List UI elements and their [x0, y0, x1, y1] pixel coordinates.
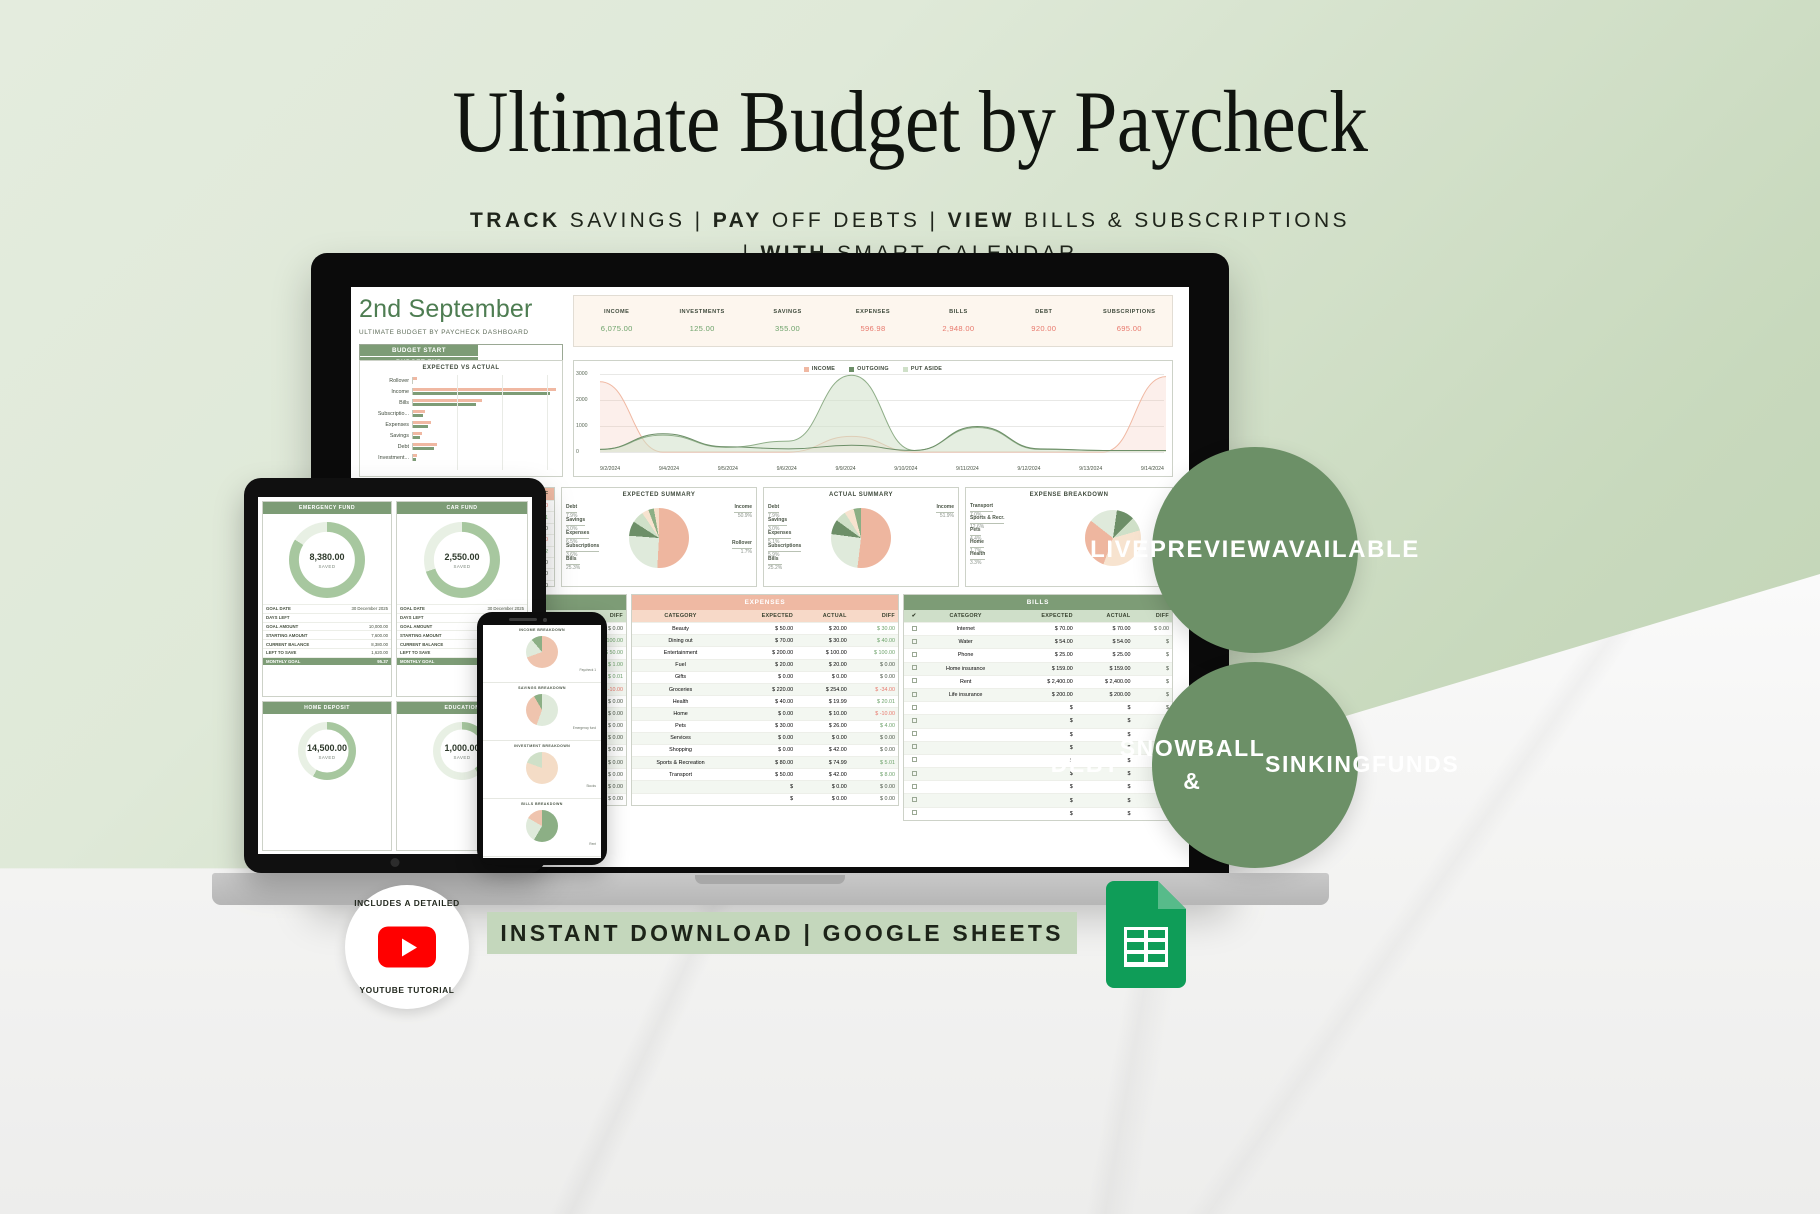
legend-swatch-icon: [804, 367, 809, 372]
table-cell: Internet: [924, 623, 1007, 636]
legend-item-put-aside: PUT ASIDE: [903, 366, 942, 372]
pie-label-name: Home: [970, 539, 984, 548]
table-row[interactable]: $$$: [904, 702, 1172, 715]
table-row[interactable]: Health$ 40.00$ 19.99$ 20.01: [632, 696, 898, 708]
kpi-label: EXPENSES: [830, 309, 915, 315]
pie-label: Bills25.3%: [566, 556, 580, 572]
eva-bar-expected: [413, 410, 425, 413]
savings-row-label: GOAL DATE: [266, 606, 351, 611]
savings-amount: 2,550.00: [444, 552, 479, 562]
table-column-header: DIFF: [1133, 610, 1172, 623]
savings-amount: 8,380.00: [309, 552, 344, 562]
eva-bar-actual: [413, 414, 423, 417]
play-icon: [378, 927, 436, 968]
savings-card-title: CAR FUND: [397, 502, 527, 514]
eva-bars: [412, 399, 556, 405]
table-cell: [924, 754, 1007, 767]
pie-label: Bills25.2%: [768, 556, 782, 572]
table-row[interactable]: $$$: [904, 807, 1172, 820]
table-row[interactable]: Gifts$ 0.00$ 0.00$ 0.00: [632, 671, 898, 683]
table-banner: EXPENSES: [632, 595, 898, 610]
subtitle-bills: BILLS & SUBSCRIPTIONS: [1015, 209, 1350, 232]
savings-card-title: EMERGENCY FUND: [263, 502, 391, 514]
eva-bar-expected: [413, 421, 431, 424]
dashboard-header: 2nd September ULTIMATE BUDGET BY PAYCHEC…: [359, 295, 563, 368]
table-cell: Entertainment: [632, 647, 729, 659]
table-cell: $ 0.00: [729, 732, 796, 744]
savings-row-label: LEFT TO SAVE: [266, 650, 371, 655]
kpi-value: 695.00: [1087, 324, 1172, 333]
eva-gridline: [502, 375, 503, 470]
phone-pie-graphic: [526, 810, 558, 842]
check-icon[interactable]: [912, 757, 917, 762]
eva-bars: [412, 388, 556, 394]
table-cell-checkbox[interactable]: [904, 649, 924, 662]
table-column-header: ACTUAL: [796, 610, 850, 623]
table-cell: [924, 794, 1007, 807]
table-cell: $ 8.00: [850, 769, 898, 781]
kpi-value: 6,075.00: [574, 324, 659, 333]
phone-section-title: SAVINGS BREAKDOWN: [487, 686, 597, 690]
savings-row-label: DAYS LEFT: [266, 615, 388, 620]
kpi-cell-income: INCOME6,075.00: [574, 309, 659, 333]
pie-wrap: Debt7.9%Savings3.0%Expenses6.5%Subscript…: [562, 500, 756, 578]
check-icon[interactable]: [912, 731, 917, 736]
phone-pie-graphic: [526, 694, 558, 726]
table-cell-checkbox[interactable]: [904, 623, 924, 636]
table-cell-checkbox[interactable]: [904, 702, 924, 715]
table-cell: [924, 741, 1007, 754]
kpi-cell-debt: DEBT920.00: [1001, 309, 1086, 333]
table-cell-checkbox[interactable]: [904, 675, 924, 688]
table-row[interactable]: Beauty$ 50.00$ 20.00$ 30.00: [632, 623, 898, 635]
kpi-cell-bills: BILLS2,948.00: [916, 309, 1001, 333]
table-row[interactable]: Shopping$ 0.00$ 42.00$ 0.00: [632, 744, 898, 756]
table-cell: $: [1007, 715, 1076, 728]
table-row[interactable]: Pets$ 30.00$ 26.00$ 4.00: [632, 720, 898, 732]
table-row[interactable]: Water$ 54.00$ 54.00$: [904, 636, 1172, 649]
table-cell: $: [1133, 688, 1172, 701]
eva-bar-expected: [413, 388, 556, 391]
table-cell: $: [1007, 702, 1076, 715]
legend-swatch-icon: [849, 367, 854, 372]
table-cell: Phone: [924, 649, 1007, 662]
pie-label-name: Income: [734, 504, 752, 513]
expected-vs-actual-chart: EXPECTED VS ACTUAL RolloverIncomeBillsSu…: [359, 360, 563, 477]
table-cell: $: [1133, 636, 1172, 649]
check-icon[interactable]: [912, 744, 917, 749]
table-cell: $ 0.00: [850, 671, 898, 683]
table-header-row: CATEGORYEXPECTEDACTUALDIFF: [632, 610, 898, 623]
table-cell: Groceries: [632, 683, 729, 695]
table-cell: $ 0.00: [850, 744, 898, 756]
eva-category-label: Investment...: [366, 455, 412, 461]
eva-bar-actual: [413, 436, 420, 439]
cashflow-ytick-label: 0: [576, 449, 579, 455]
table-cell-checkbox[interactable]: [904, 636, 924, 649]
table-cell: $ 0.00: [850, 732, 898, 744]
legend-label: INCOME: [812, 366, 835, 372]
table-cell: $ -10.00: [850, 708, 898, 720]
table-cell: $ 10.00: [796, 708, 850, 720]
phone-pie-label: Stocks: [586, 784, 596, 788]
table-cell: $ 19.99: [796, 696, 850, 708]
phone-section-investment-breakdown: INVESTMENT BREAKDOWNStocks: [483, 741, 601, 799]
pie-label-name: Subscriptions: [768, 543, 801, 552]
eva-bars: [412, 454, 556, 460]
table-row[interactable]: $$ 0.00$ 0.00: [632, 793, 898, 805]
table-row[interactable]: Fuel$ 20.00$ 20.00$ 0.00: [632, 659, 898, 671]
savings-detail-rows: GOAL DATE30 December 2025DAYS LEFTGOAL A…: [263, 604, 391, 665]
table-cell: Dining out: [632, 635, 729, 647]
table-cell: $ 0.00: [850, 793, 898, 805]
table-row[interactable]: Home insurance$ 159.00$ 159.00$: [904, 662, 1172, 675]
expected-vs-actual-title: EXPECTED VS ACTUAL: [360, 361, 562, 373]
cashflow-ytick-label: 3000: [576, 371, 588, 377]
cashflow-plot: 3000200010000: [600, 374, 1164, 452]
table-cell-checkbox[interactable]: [904, 662, 924, 675]
savings-card-home-deposit: HOME DEPOSIT14,500.00SAVED: [262, 701, 392, 851]
legend-label: OUTGOING: [857, 366, 889, 372]
savings-row: LEFT TO SAVE1,620.00: [263, 648, 391, 657]
pie-label: Rollover1.7%: [732, 540, 752, 556]
table-row[interactable]: Entertainment$ 200.00$ 100.00$ 100.00: [632, 647, 898, 659]
table-cell: $ 74.99: [796, 757, 850, 769]
table-cell: $ 0.00: [796, 671, 850, 683]
savings-row-label: GOAL AMOUNT: [266, 624, 369, 629]
phone-pie-label: Emergency fund: [573, 726, 596, 730]
pie-label-name: Rollover: [732, 540, 752, 549]
table-row[interactable]: Internet$ 70.00$ 70.00$ 0.00: [904, 623, 1172, 636]
table-cell: $ 30.00: [729, 720, 796, 732]
table-cell: [632, 781, 729, 793]
table-cell: Services: [632, 732, 729, 744]
budget-start-input[interactable]: [478, 345, 562, 356]
table-cell: $ 254.00: [796, 683, 850, 695]
eva-bar-actual: [413, 458, 416, 461]
pie-label-name: Sports & Recr.: [970, 515, 1004, 524]
table-column-header: EXPECTED: [1007, 610, 1076, 623]
badge-debt-snowball: DEBTSNOWBALL &SINKINGFUNDS: [1152, 662, 1358, 868]
table-cell: $ 159.00: [1076, 662, 1134, 675]
table-cell: [924, 768, 1007, 781]
phone-section-bills-breakdown: BILLS BREAKDOWNRent: [483, 799, 601, 857]
savings-amount: 14,500.00: [307, 743, 347, 753]
table-cell: $ 5.01: [850, 757, 898, 769]
table-row[interactable]: Home$ 0.00$ 10.00$ -10.00: [632, 708, 898, 720]
pie-label: Income50.9%: [734, 504, 752, 520]
table-cell: Home insurance: [924, 662, 1007, 675]
dashboard-subheading: ULTIMATE BUDGET BY PAYCHECK DASHBOARD: [359, 329, 563, 336]
table: CATEGORYEXPECTEDACTUALDIFFBeauty$ 50.00$…: [632, 610, 898, 805]
table-row[interactable]: Dining out$ 70.00$ 30.00$ 40.00: [632, 635, 898, 647]
savings-row: GOAL DATE30 December 2025: [263, 604, 391, 613]
phone-pie-label: Paycheck 1: [580, 668, 596, 672]
table-cell: $ 0.00: [1133, 623, 1172, 636]
expenses-table: EXPENSESCATEGORYEXPECTEDACTUALDIFFBeauty…: [631, 594, 899, 806]
pie-label-value: 50.9%: [738, 513, 752, 519]
savings-goal-row: MONTHLY GOAL95.37: [263, 657, 391, 666]
table-cell: $ 70.00: [1007, 623, 1076, 636]
savings-donut: 2,550.00SAVED: [424, 522, 500, 598]
table-row[interactable]: $$$: [904, 715, 1172, 728]
table-cell: [924, 807, 1007, 820]
expected-vs-actual-plot: RolloverIncomeBillsSubscriptio...Expense…: [366, 375, 556, 470]
table-cell: $ 100.00: [796, 647, 850, 659]
table-cell: $ 70.00: [1076, 623, 1134, 636]
eva-gridline: [547, 375, 548, 470]
savings-card-title: HOME DEPOSIT: [263, 702, 391, 714]
table-cell: $ 0.00: [729, 671, 796, 683]
check-icon[interactable]: [912, 771, 917, 776]
google-sheets-icon: [1106, 881, 1186, 988]
table-cell: Home: [632, 708, 729, 720]
check-icon[interactable]: [912, 784, 917, 789]
table-cell: $: [1076, 807, 1134, 820]
pie-label-name: Debt: [768, 504, 779, 513]
table-column-header: ACTUAL: [1076, 610, 1134, 623]
tablet-home-button[interactable]: [391, 858, 400, 867]
savings-row-value: 1,620.00: [371, 650, 388, 655]
table-row[interactable]: Groceries$ 220.00$ 254.00$ -34.00: [632, 683, 898, 695]
table-cell: $ 0.00: [796, 732, 850, 744]
table-cell: $: [1076, 715, 1134, 728]
table-cell: $ 30.00: [796, 635, 850, 647]
table-cell-checkbox[interactable]: [904, 794, 924, 807]
savings-amount-label: SAVED: [453, 755, 470, 760]
check-icon[interactable]: [912, 718, 917, 723]
subtitle-track: TRACK: [470, 209, 561, 232]
table-row[interactable]: Life insurance$ 200.00$ 200.00$: [904, 688, 1172, 701]
table-cell-checkbox[interactable]: [904, 781, 924, 794]
table-cell-checkbox[interactable]: [904, 688, 924, 701]
table-cell: $ 220.00: [729, 683, 796, 695]
table-cell-checkbox[interactable]: [904, 728, 924, 741]
table-cell: $ 42.00: [796, 744, 850, 756]
cashflow-xtick-label: 9/12/2024: [1017, 466, 1040, 472]
savings-amount-wrap: 14,500.00SAVED: [298, 722, 356, 780]
eva-row: Bills: [366, 397, 556, 408]
legend-item-income: INCOME: [804, 366, 835, 372]
savings-row-value: 7,600.00: [371, 633, 388, 638]
table-row[interactable]: $$ 0.00$ 0.00: [632, 781, 898, 793]
badge-debt-text-line-2: SINKING: [1265, 748, 1372, 781]
table-cell: [924, 715, 1007, 728]
cashflow-xaxis: 9/2/20249/4/20249/5/20249/6/20249/9/2024…: [600, 466, 1164, 472]
cashflow-xtick-label: 9/13/2024: [1079, 466, 1102, 472]
table-cell: [924, 702, 1007, 715]
savings-amount: 1,000.00: [444, 743, 479, 753]
table-cell-checkbox[interactable]: [904, 741, 924, 754]
table-cell: $: [1133, 649, 1172, 662]
phone-section-income-breakdown: INCOME BREAKDOWNPaycheck 1: [483, 625, 601, 683]
phone-screen: INCOME BREAKDOWNPaycheck 1SAVINGS BREAKD…: [483, 625, 601, 858]
check-icon[interactable]: [912, 639, 917, 644]
cashflow-xtick-label: 9/14/2024: [1141, 466, 1164, 472]
table-cell: $ 50.00: [729, 769, 796, 781]
table-cell: $ 50.00: [729, 623, 796, 635]
kpi-value: 2,948.00: [916, 324, 1001, 333]
savings-row-label: GOAL DATE: [400, 606, 487, 611]
eva-gridline: [457, 375, 458, 470]
eva-row: Income: [366, 386, 556, 397]
youtube-badge-top-text: INCLUDES A DETAILED: [345, 898, 469, 909]
table-cell: [924, 728, 1007, 741]
table-cell: $: [1007, 794, 1076, 807]
check-icon[interactable]: [912, 652, 917, 657]
eva-row: Rollover: [366, 375, 556, 386]
eva-row: Savings: [366, 430, 556, 441]
eva-bar-actual: [413, 392, 550, 395]
savings-goal-value: 95.37: [377, 659, 388, 664]
kpi-cell-subscriptions: SUBSCRIPTIONS695.00: [1087, 309, 1172, 333]
savings-row: CURRENT BALANCE8,380.00: [263, 639, 391, 648]
savings-card-emergency-fund: EMERGENCY FUND8,380.00SAVEDGOAL DATE30 D…: [262, 501, 392, 697]
eva-bar-expected: [413, 377, 417, 380]
table-banner: BILLS: [904, 595, 1172, 610]
check-icon[interactable]: [912, 626, 917, 631]
pie-label-name: Bills: [768, 556, 782, 565]
pie-title: EXPENSE BREAKDOWN: [966, 488, 1172, 500]
eva-bar-expected: [413, 454, 417, 457]
table-row[interactable]: Phone$ 25.00$ 25.00$: [904, 649, 1172, 662]
youtube-tutorial-badge: INCLUDES A DETAILED YOUTUBE TUTORIAL: [345, 885, 469, 1009]
phone-camera: [543, 618, 547, 622]
table-cell-checkbox[interactable]: [904, 768, 924, 781]
table-cell: [924, 781, 1007, 794]
pie-label: Health3.3%: [970, 551, 985, 567]
table-cell: $: [1007, 807, 1076, 820]
pie-label-name: Debt: [566, 504, 577, 513]
table-cell: $ 20.01: [850, 696, 898, 708]
pie-label-name: Savings: [566, 517, 585, 526]
table-cell: Pets: [632, 720, 729, 732]
phone-section-title: BILLS BREAKDOWN: [487, 802, 597, 806]
table-cell: $ 0.00: [729, 708, 796, 720]
table-cell: $ 0.00: [729, 744, 796, 756]
table-cell: $: [1007, 781, 1076, 794]
cashflow-xtick-label: 9/5/2024: [718, 466, 738, 472]
table-cell: Water: [924, 636, 1007, 649]
phone-pie-graphic: [526, 636, 558, 668]
table-cell: Sports & Recreation: [632, 757, 729, 769]
cashflow-xtick-label: 9/11/2024: [956, 466, 979, 472]
savings-row: STARTING AMOUNT7,600.00: [263, 630, 391, 639]
check-icon[interactable]: [912, 797, 917, 802]
table-cell: $ 40.00: [729, 696, 796, 708]
table-row[interactable]: Rent$ 2,400.00$ 2,400.00$: [904, 675, 1172, 688]
table-cell: $ 40.00: [850, 635, 898, 647]
savings-donut: 14,500.00SAVED: [298, 722, 356, 780]
table-cell-checkbox[interactable]: [904, 754, 924, 767]
table-cell: $ 20.00: [796, 659, 850, 671]
kpi-value: 920.00: [1001, 324, 1086, 333]
table-row[interactable]: Sports & Recreation$ 80.00$ 74.99$ 5.01: [632, 757, 898, 769]
badge-live-text-line-1: PREVIEW: [1150, 533, 1272, 568]
eva-bar-actual: [413, 403, 476, 406]
pie-label-name: Pets: [970, 527, 981, 536]
check-icon[interactable]: [912, 810, 917, 815]
pie-wrap: Debt7.9%Savings3.0%Expenses5.1%Subscript…: [764, 500, 958, 578]
check-icon[interactable]: [912, 678, 917, 683]
subtitle-view: VIEW: [948, 209, 1015, 232]
budget-start-label: BUDGET START: [360, 345, 478, 356]
eva-bar-expected: [413, 432, 422, 435]
table-cell: $ 159.00: [1007, 662, 1076, 675]
eva-bars: [412, 432, 556, 438]
pie-title: EXPECTED SUMMARY: [562, 488, 756, 500]
cashflow-xtick-label: 9/4/2024: [659, 466, 679, 472]
legend-swatch-icon: [903, 367, 908, 372]
table-cell: Beauty: [632, 623, 729, 635]
eva-category-label: Savings: [366, 433, 412, 439]
badge-live-preview: LIVEPREVIEWAVAILABLE: [1152, 447, 1358, 653]
cashflow-xtick-label: 9/9/2024: [835, 466, 855, 472]
pie-label-name: Bills: [566, 556, 580, 565]
table-cell: $ 25.00: [1076, 649, 1134, 662]
check-icon[interactable]: [912, 692, 917, 697]
table-cell-checkbox[interactable]: [904, 807, 924, 820]
eva-bars: [412, 410, 556, 416]
eva-category-label: Rollover: [366, 378, 412, 384]
eva-bars: [412, 377, 556, 383]
table-row[interactable]: Services$ 0.00$ 0.00$ 0.00: [632, 732, 898, 744]
table-cell: $ 20.00: [729, 659, 796, 671]
table-cell: $ 0.00: [850, 781, 898, 793]
kpi-label: DEBT: [1001, 309, 1086, 315]
pie-label-name: Subscriptions: [566, 543, 599, 552]
kpi-cell-investments: INVESTMENTS125.00: [659, 309, 744, 333]
youtube-badge-bottom-text: YOUTUBE TUTORIAL: [345, 985, 469, 995]
pie-label-value: 25.3%: [566, 565, 580, 571]
badge-debt-text-line-3: FUNDS: [1372, 748, 1459, 781]
cashflow-area-chart: INCOMEOUTGOINGPUT ASIDE 3000200010000 9/…: [573, 360, 1173, 477]
eva-row: Subscriptio...: [366, 408, 556, 419]
table-cell: Shopping: [632, 744, 729, 756]
savings-amount-wrap: 2,550.00SAVED: [424, 522, 500, 598]
pie-graphic: [629, 508, 689, 568]
table-cell: Gifts: [632, 671, 729, 683]
check-icon[interactable]: [912, 705, 917, 710]
cashflow-xtick-label: 9/10/2024: [894, 466, 917, 472]
laptop-notch: [695, 875, 845, 884]
table-row[interactable]: Transport$ 50.00$ 42.00$ 8.00: [632, 769, 898, 781]
budget-start-row[interactable]: BUDGET START: [360, 345, 562, 356]
savings-amount-label: SAVED: [318, 564, 335, 569]
subtitle-savings: SAVINGS |: [561, 209, 713, 232]
table-cell: $ 54.00: [1007, 636, 1076, 649]
table-cell: $ 2,400.00: [1076, 675, 1134, 688]
table-cell: $ 26.00: [796, 720, 850, 732]
table-cell: Fuel: [632, 659, 729, 671]
eva-category-label: Bills: [366, 400, 412, 406]
kpi-cell-savings: SAVINGS355.00: [745, 309, 830, 333]
savings-row-label: CURRENT BALANCE: [266, 642, 371, 647]
table-cell: $: [1133, 662, 1172, 675]
table-cell: $ 70.00: [729, 635, 796, 647]
savings-amount-label: SAVED: [318, 755, 335, 760]
check-icon[interactable]: [912, 665, 917, 670]
eva-bar-actual: [413, 425, 428, 428]
badge-live-text-line-0: LIVE: [1090, 533, 1150, 568]
table-cell-checkbox[interactable]: [904, 715, 924, 728]
kpi-label: SAVINGS: [745, 309, 830, 315]
kpi-value: 125.00: [659, 324, 744, 333]
eva-row: Debt: [366, 441, 556, 452]
table-column-header: EXPECTED: [729, 610, 796, 623]
table-cell: $ 4.00: [850, 720, 898, 732]
kpi-label: INCOME: [574, 309, 659, 315]
